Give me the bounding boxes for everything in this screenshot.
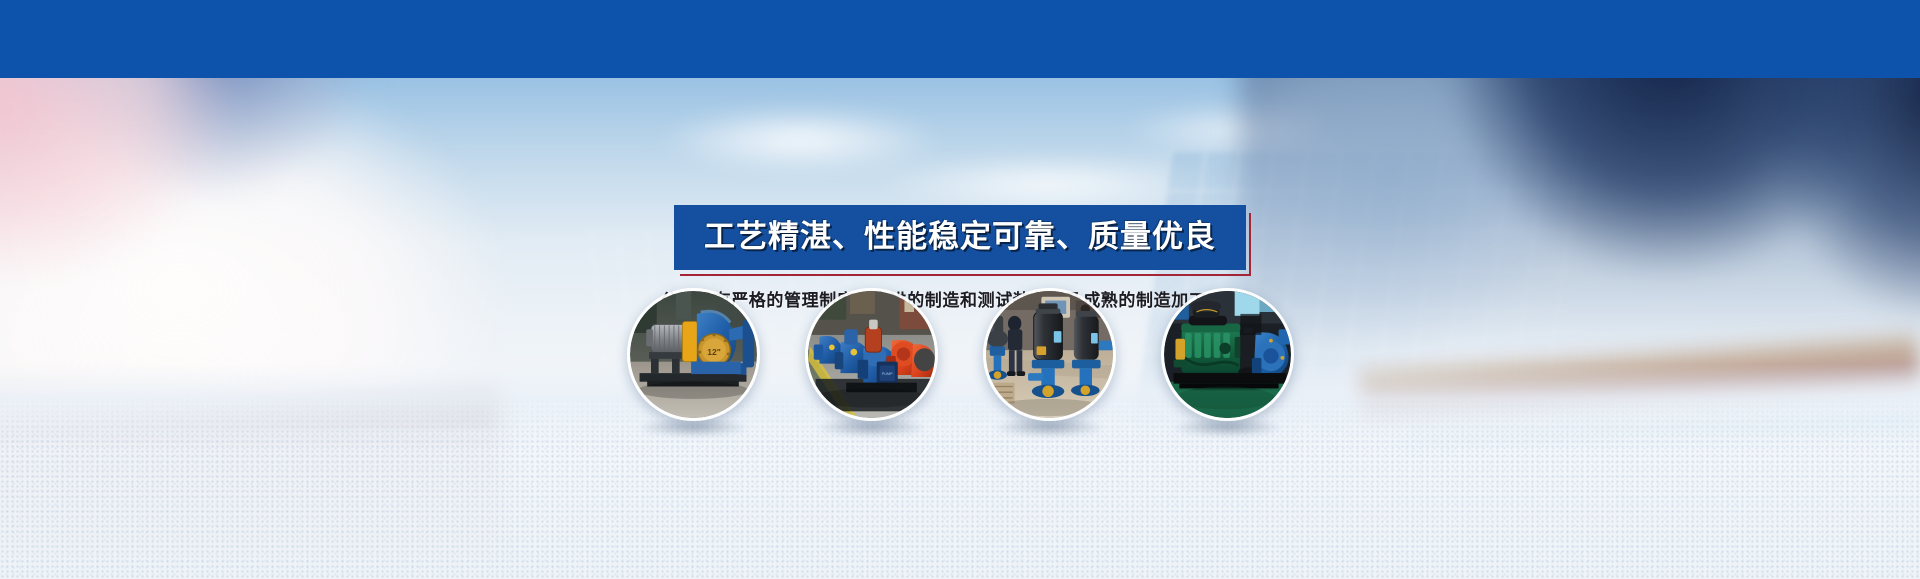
circle-shadow bbox=[1175, 419, 1280, 436]
circle-shadow bbox=[997, 419, 1102, 436]
circle-frame bbox=[983, 288, 1116, 421]
gallery-item-split-case-pump[interactable]: 12" bbox=[627, 288, 760, 421]
product-circle-gallery: 12" bbox=[0, 288, 1920, 421]
svg-text:PUMP: PUMP bbox=[881, 372, 892, 376]
circle-shadow bbox=[819, 419, 924, 436]
split-case-pump-photo: 12" bbox=[630, 291, 757, 418]
circle-frame bbox=[1161, 288, 1294, 421]
vertical-inline-pump-photo bbox=[986, 291, 1113, 418]
ground-texture bbox=[0, 394, 1920, 579]
diesel-engine-pump-photo bbox=[1164, 291, 1291, 418]
headline-text: 工艺精湛、性能稳定可靠、质量优良 bbox=[704, 218, 1216, 256]
circle-shadow bbox=[641, 419, 746, 436]
headline-box: 工艺精湛、性能稳定可靠、质量优良 bbox=[674, 205, 1246, 270]
headline-container: 工艺精湛、性能稳定可靠、质量优良 bbox=[0, 205, 1920, 270]
end-suction-pump-row-photo: PUMP bbox=[808, 291, 935, 418]
banner-stage: 工艺精湛、性能稳定可靠、质量优良 公司具有严格的管理制度，先进的制造和测试装备以… bbox=[0, 0, 1920, 579]
gallery-item-vertical-inline-pumps[interactable] bbox=[983, 288, 1116, 421]
top-blue-bar bbox=[0, 0, 1920, 78]
circle-frame: 12" bbox=[627, 288, 760, 421]
svg-text:12": 12" bbox=[707, 347, 721, 357]
circle-frame: PUMP bbox=[805, 288, 938, 421]
gallery-item-end-suction-pumps[interactable]: PUMP bbox=[805, 288, 938, 421]
gallery-item-diesel-engine-pump[interactable] bbox=[1161, 288, 1294, 421]
